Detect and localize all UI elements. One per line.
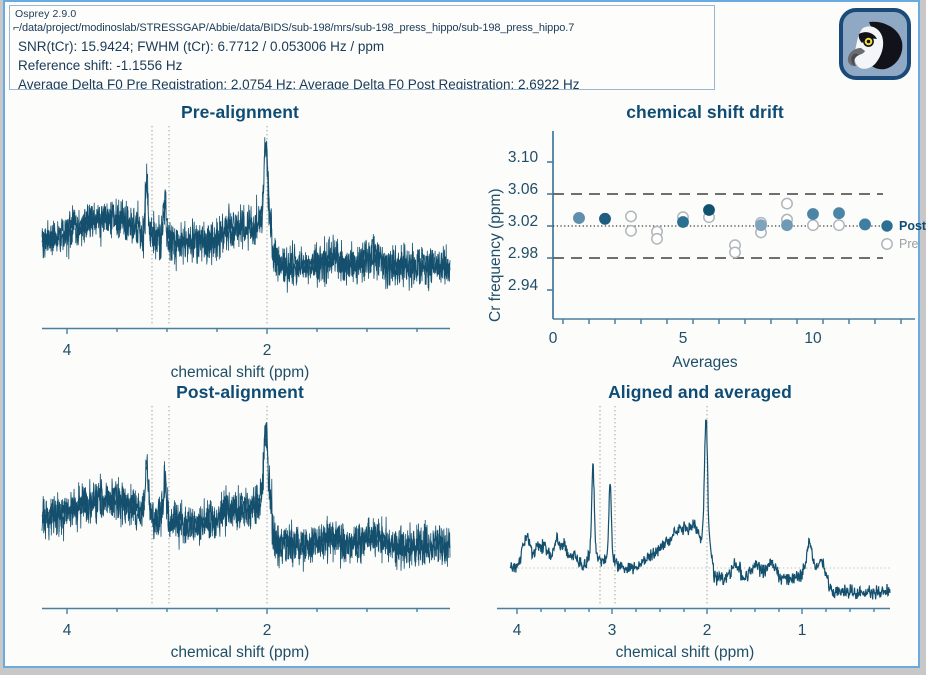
drift-ytick-4: 2.94: [508, 277, 538, 295]
drift-point-pre: [652, 234, 662, 244]
drift-ytick-1: 3.06: [508, 181, 538, 199]
pre-alignment-title: Pre-alignment: [20, 102, 460, 123]
drift-legend-post-label: Post: [899, 219, 926, 233]
drift-point-post: [834, 208, 845, 219]
panel-post-alignment: Post-alignment: [20, 382, 460, 672]
snr-fwhm-label: SNR(tCr): 15.9424; FWHM (tCr): 6.7712 / …: [18, 39, 384, 54]
drift-plot: [475, 126, 925, 341]
aligned-averaged-xtick-0: 4: [513, 622, 522, 640]
drift-point-post: [808, 209, 819, 220]
panel-aligned-averaged: Aligned and averaged: [475, 382, 925, 672]
drift-point-pre: [834, 220, 844, 230]
drift-point-pre: [626, 211, 636, 221]
aligned-averaged-xtick-1: 3: [608, 622, 617, 640]
drift-point-post: [600, 213, 611, 224]
header-region: Osprey 2.9.0 ⌐ /data/project/modinoslab/…: [5, 2, 918, 98]
aligned-averaged-xtick-3: 1: [798, 622, 807, 640]
aligned-averaged-xtick-2: 2: [703, 622, 712, 640]
drift-point-pre: [782, 198, 792, 208]
post-alignment-xtick-1: 2: [263, 622, 272, 640]
drift-title: chemical shift drift: [505, 102, 905, 123]
drift-ytick-0: 3.10: [508, 149, 538, 167]
post-alignment-xlabel: chemical shift (ppm): [20, 644, 460, 662]
drift-point-post: [678, 217, 689, 228]
reference-shift-label: Reference shift: -1.1556 Hz: [18, 58, 182, 73]
pre-alignment-xaxis: [20, 326, 460, 340]
post-alignment-xaxis: [20, 606, 460, 620]
drift-xtick-2: 10: [804, 330, 821, 348]
drift-xtick-0: 0: [549, 330, 558, 348]
post-alignment-xtick-0: 4: [63, 622, 72, 640]
aligned-averaged-title: Aligned and averaged: [495, 382, 905, 403]
drift-point-pre: [626, 226, 636, 236]
app-version-label: Osprey 2.9.0: [15, 8, 76, 20]
info-textbox: Osprey 2.9.0 ⌐ /data/project/modinoslab/…: [9, 5, 715, 90]
pre-alignment-xtick-0: 4: [63, 342, 72, 360]
drift-legend-pre-label: Pre: [899, 237, 918, 251]
post-alignment-title: Post-alignment: [20, 382, 460, 403]
panel-pre-alignment: Pre-alignment: [20, 102, 460, 392]
post-alignment-plot: [20, 406, 460, 606]
pre-alignment-xlabel: chemical shift (ppm): [20, 364, 460, 382]
pre-alignment-plot: [20, 126, 460, 326]
drift-point-post: [782, 220, 793, 231]
drift-xlabel: Averages: [515, 354, 895, 372]
drift-ytick-2: 3.02: [508, 213, 538, 231]
pre-alignment-xtick-1: 2: [263, 342, 272, 360]
drift-point-pre: [808, 220, 818, 230]
drift-xtick-1: 5: [679, 330, 688, 348]
aligned-averaged-xlabel: chemical shift (ppm): [460, 644, 910, 662]
delta-f0-label: Average Delta F0 Pre Registration: 2.075…: [18, 77, 580, 90]
drift-point-post: [756, 220, 767, 231]
aligned-averaged-xaxis: [475, 606, 925, 620]
drift-point-post: [860, 219, 871, 230]
panel-chemical-shift-drift: chemical shift drift Cr frequency (ppm): [475, 102, 925, 392]
osprey-window: Osprey 2.9.0 ⌐ /data/project/modinoslab/…: [3, 0, 920, 668]
aligned-averaged-plot: [475, 406, 925, 606]
drift-point-pre: [730, 247, 740, 257]
drift-ytick-3: 2.98: [508, 245, 538, 263]
file-path-label: /data/project/modinoslab/STRESSGAP/Abbie…: [19, 22, 574, 34]
drift-point-post: [704, 205, 715, 216]
drift-point-post: [574, 213, 585, 224]
osprey-bird-logo-icon: [839, 8, 911, 80]
